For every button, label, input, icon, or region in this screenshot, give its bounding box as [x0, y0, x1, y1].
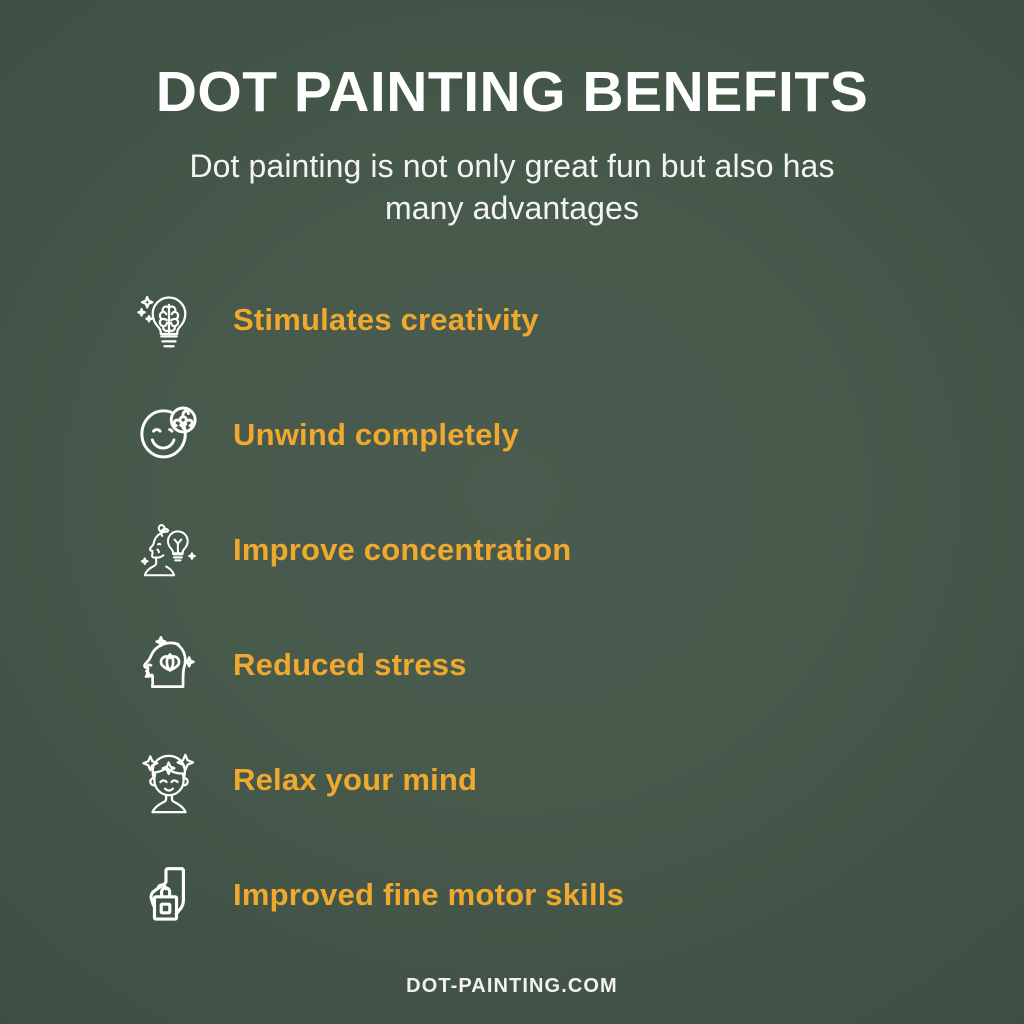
lightbulb-brain-sparkles-icon [130, 281, 208, 359]
website-url: DOT-PAINTING.COM [406, 975, 618, 997]
list-item: Unwind completely [130, 387, 930, 483]
page-subtitle: Dot painting is not only great fun but a… [0, 145, 1024, 229]
poster-canvas: DOT PAINTING BENEFITS Dot painting is no… [0, 0, 1024, 1024]
benefit-label: Unwind completely [233, 417, 519, 453]
head-profile-lotus-sparkles-icon [130, 626, 208, 704]
benefit-label: Improved fine motor skills [233, 877, 624, 913]
calm-face-stars-icon [130, 741, 208, 819]
list-item: Reduced stress [130, 617, 930, 713]
benefit-label: Improve concentration [233, 532, 571, 568]
list-item: Improve concentration [130, 502, 930, 598]
benefit-label: Reduced stress [233, 647, 467, 683]
poster-header: DOT PAINTING BENEFITS Dot painting is no… [0, 0, 1024, 229]
smiling-face-flower-badge-icon [130, 396, 208, 474]
benefits-list: Stimulates creativity Unw [130, 272, 930, 962]
hand-pinching-object-icon [130, 856, 208, 934]
list-item: Improved fine motor skills [130, 847, 930, 943]
benefit-label: Stimulates creativity [233, 302, 539, 338]
list-item: Relax your mind [130, 732, 930, 828]
page-title: DOT PAINTING BENEFITS [0, 63, 1024, 123]
head-profile-lightbulb-icon [130, 511, 208, 589]
poster-footer: DOT-PAINTING.COM [0, 975, 1024, 998]
list-item: Stimulates creativity [130, 272, 930, 368]
benefit-label: Relax your mind [233, 762, 477, 798]
